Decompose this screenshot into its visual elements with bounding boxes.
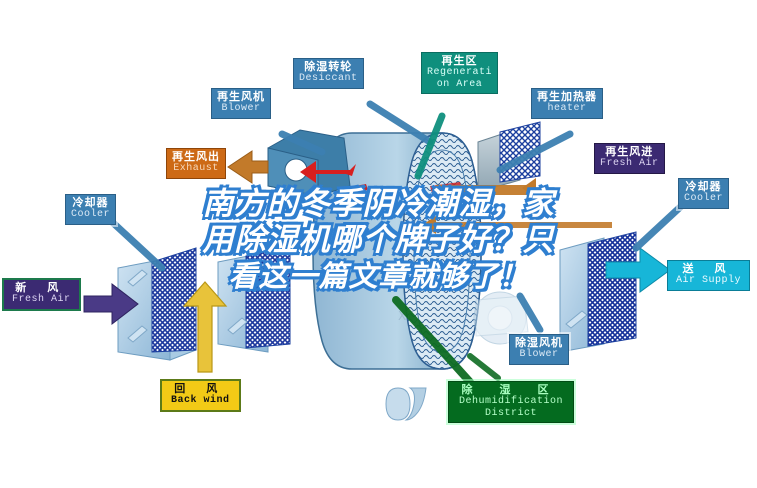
label-dehumidification-district-en-1: Dehumidification [459, 396, 563, 407]
label-desiccant-rotor-cn: 除湿转轮 [299, 61, 358, 73]
label-fresh-air-in-en: Fresh Air [12, 294, 71, 305]
label-cooler-left-en: Cooler [71, 209, 110, 220]
label-regeneration-heater-en: heater [537, 103, 597, 114]
label-cooler-right[interactable]: 冷却器 Cooler [678, 178, 729, 209]
label-back-wind-cn: 回 风 [171, 383, 230, 395]
label-air-supply-en: Air Supply [676, 275, 741, 286]
dehumidifier-machine-illustration: XT [0, 0, 757, 488]
label-regeneration-heater-cn: 再生加热器 [537, 91, 597, 103]
label-cooler-right-en: Cooler [684, 193, 723, 204]
label-regeneration-area-cn: 再生区 [427, 55, 492, 67]
label-desiccant-rotor[interactable]: 除湿转轮 Desiccant [293, 58, 364, 89]
label-regeneration-blower-cn: 再生风机 [217, 91, 265, 103]
label-regeneration-blower[interactable]: 再生风机 Blower [211, 88, 271, 119]
label-regeneration-air-out-en: Exhaust [172, 163, 220, 174]
exhaust-arrow [228, 151, 268, 183]
label-cooler-left-cn: 冷却器 [71, 197, 110, 209]
label-desiccant-rotor-en: Desiccant [299, 73, 358, 84]
label-back-wind[interactable]: 回 风 Back wind [160, 379, 241, 412]
label-dehumidify-blower[interactable]: 除湿风机 Blower [509, 334, 569, 365]
label-cooler-right-cn: 冷却器 [684, 181, 723, 193]
label-air-supply-cn: 送 风 [676, 263, 741, 275]
label-air-supply[interactable]: 送 风 Air Supply [667, 260, 750, 291]
label-regeneration-area[interactable]: 再生区 Regenerati on Area [421, 52, 498, 94]
label-regeneration-air-out-cn: 再生风出 [172, 151, 220, 163]
label-regeneration-air-in-cn: 再生风进 [600, 146, 659, 158]
supply-duct-and-cooler [560, 232, 636, 352]
label-regeneration-blower-en: Blower [217, 103, 265, 114]
label-regeneration-area-en-1: Regenerati [427, 67, 492, 78]
label-cooler-left[interactable]: 冷却器 Cooler [65, 194, 116, 225]
regeneration-blower-housing [268, 130, 350, 196]
label-regeneration-air-in[interactable]: 再生风进 Fresh Air [594, 143, 665, 174]
dehumidify-inlet-duct [218, 246, 290, 352]
label-dehumidification-district-en-2: District [459, 408, 563, 419]
label-dehumidification-district[interactable]: 除 湿 区 Dehumidification District [448, 381, 574, 423]
label-regeneration-area-en-2: on Area [427, 79, 492, 90]
label-fresh-air-in-cn: 新 风 [12, 282, 71, 294]
label-dehumidify-blower-en: Blower [515, 349, 563, 360]
label-fresh-air-in[interactable]: 新 风 Fresh Air [2, 278, 81, 311]
label-dehumidification-district-cn: 除 湿 区 [459, 384, 563, 396]
label-back-wind-en: Back wind [171, 395, 230, 406]
label-regeneration-air-in-en: Fresh Air [600, 158, 659, 169]
label-dehumidify-blower-cn: 除湿风机 [515, 337, 563, 349]
label-regeneration-air-out[interactable]: 再生风出 Exhaust [166, 148, 226, 179]
diagram-canvas: XT [0, 0, 757, 488]
label-regeneration-heater[interactable]: 再生加热器 heater [531, 88, 603, 119]
